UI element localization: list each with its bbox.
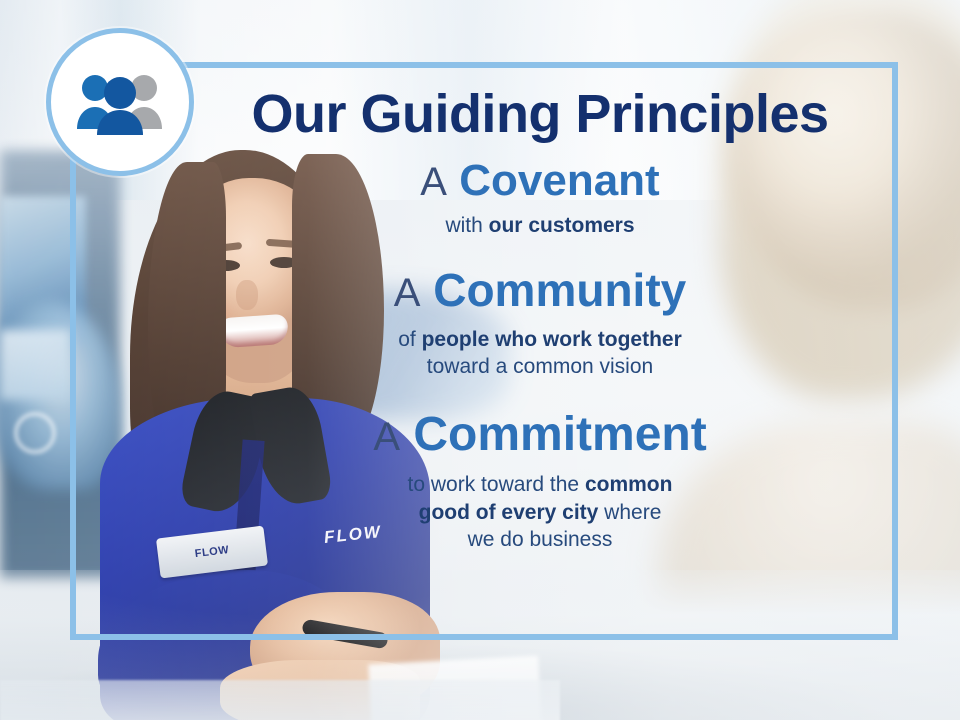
stanza-community-sub-line-1: of people who work together [398,328,682,351]
stanza-commitment-sub-line-2: good of every city where [419,501,662,524]
stanza-covenant-lead: A [420,160,447,204]
stanza-community-sub-plain: of [398,328,421,351]
stanza-community: A Community of people who work together … [210,266,870,381]
stanza-community-lead: A [394,271,421,315]
stanza-community-sub-line-2: toward a common vision [427,355,653,378]
page-title: Our Guiding Principles [210,86,870,143]
stanza-commitment-keyword: Commitment [413,408,706,461]
stanza-community-sub-bold: people who work together [422,328,682,351]
stanza-covenant-headline: A Covenant [210,157,870,205]
stanza-commitment-lead: A [373,415,400,459]
stanza-commitment-sub-plain-2: where [598,501,661,524]
people-group-icon-badge [46,28,194,176]
stanza-covenant: A Covenant with our customers [210,157,870,240]
stanza-community-headline: A Community [210,266,870,316]
stanza-covenant-sub-plain: with [445,214,488,237]
stanza-commitment-sub: to work toward the common good of every … [210,471,870,554]
stanza-commitment: A Commitment to work toward the common g… [210,409,870,554]
stanza-commitment-sub-line-1: to work toward the common [408,473,673,496]
stanza-commitment-sub-line-3: we do business [468,528,613,551]
stanza-commitment-sub-bold-1: common [585,473,673,496]
guiding-principles-banner: FLOW FLOW Our Guiding Principles [0,0,960,720]
principles-text-block: Our Guiding Principles A Covenant with o… [210,86,870,560]
people-group-icon [68,67,172,137]
desk-foreground [0,680,560,720]
stanza-covenant-sub: with our customers [210,212,870,240]
stanza-commitment-headline: A Commitment [210,409,870,461]
stanza-covenant-keyword: Covenant [459,156,659,205]
stanza-commitment-sub-plain-1: to work toward the [408,473,585,496]
stanza-commitment-sub-bold-2: good of every city [419,501,599,524]
stanza-community-sub: of people who work together toward a com… [210,326,870,381]
stanza-community-keyword: Community [433,264,686,316]
stanza-covenant-sub-bold: our customers [489,214,635,237]
